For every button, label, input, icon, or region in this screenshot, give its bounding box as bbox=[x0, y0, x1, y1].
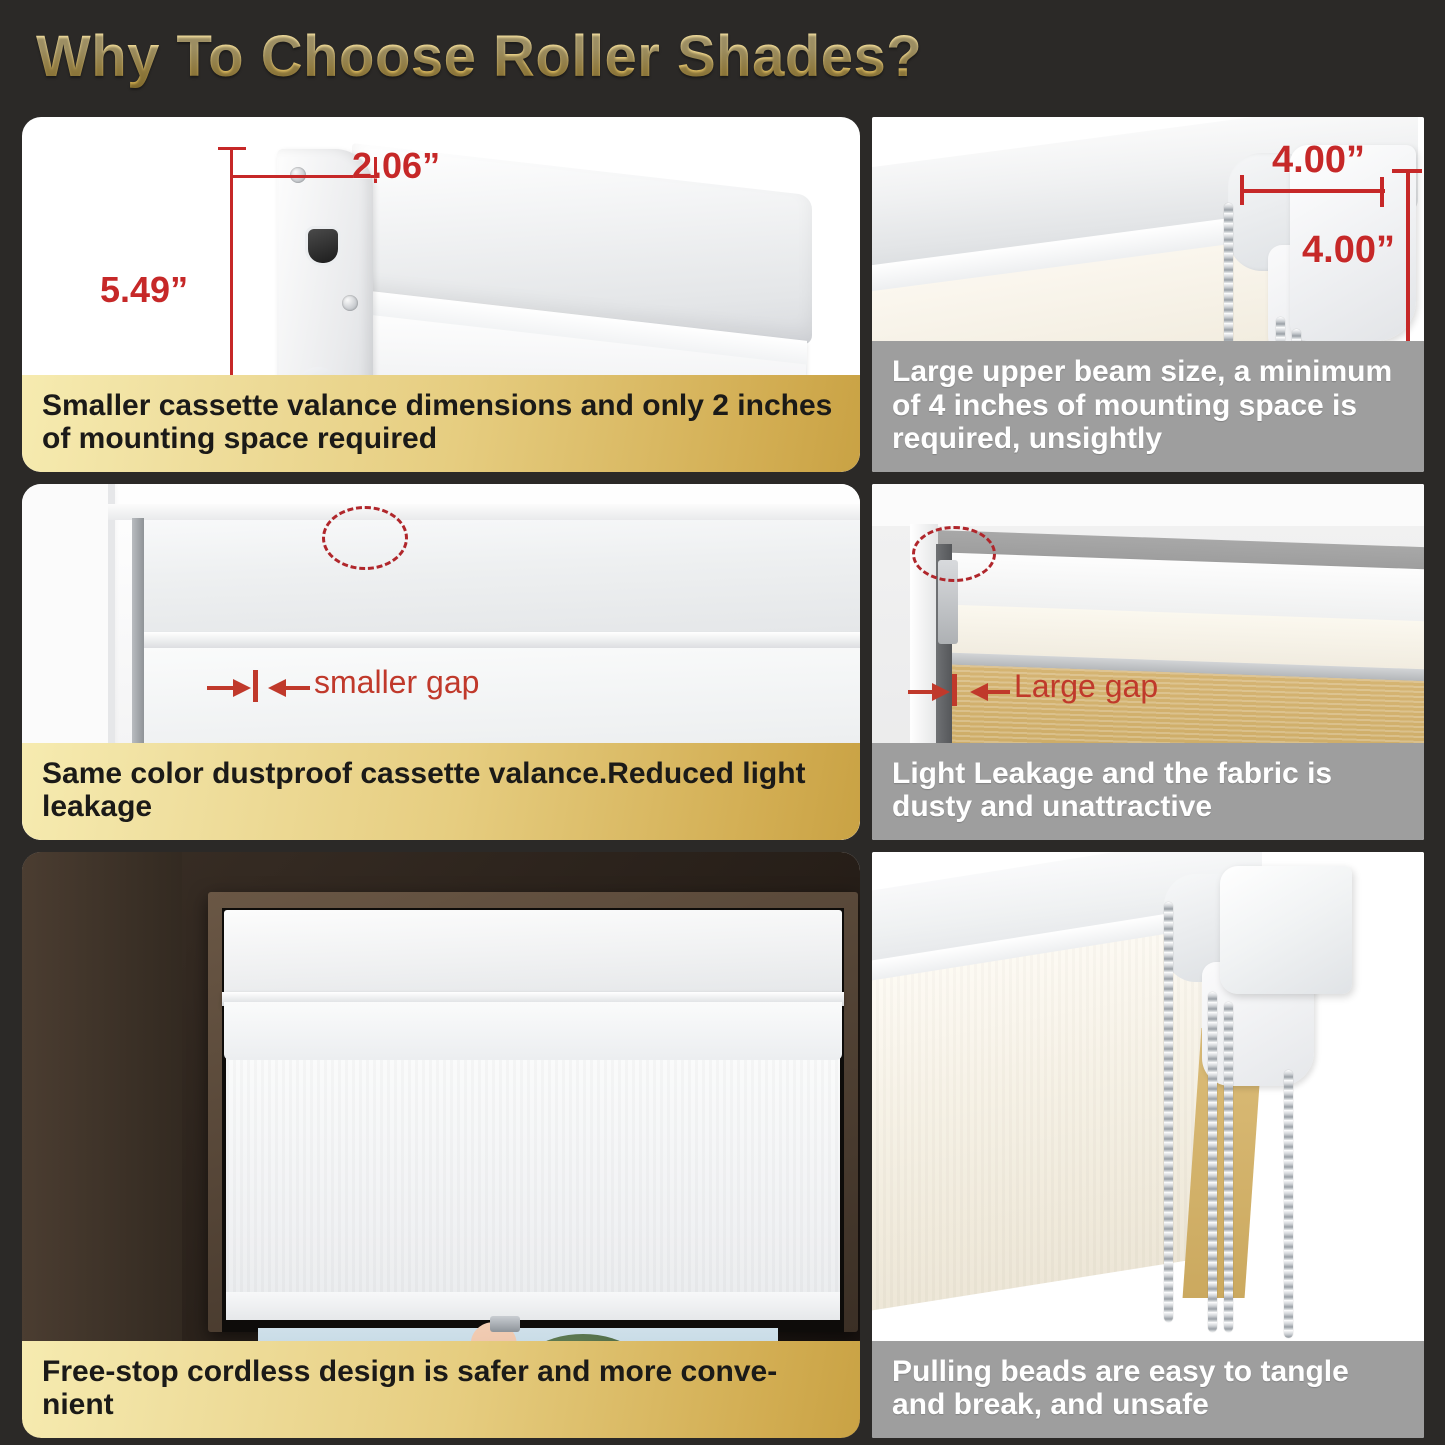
panel-cordless-design[interactable]: Free-stop cordless design is safer and m… bbox=[22, 852, 860, 1438]
dimension-line-vertical bbox=[1406, 169, 1410, 355]
dimension-line-horizontal bbox=[1240, 189, 1385, 193]
fabric-shape bbox=[872, 924, 1230, 1312]
gap-arrow-stem-right bbox=[988, 690, 1010, 694]
dimension-tick-left bbox=[230, 165, 233, 187]
screw-icon bbox=[342, 295, 358, 311]
gap-arrow-stem-left bbox=[908, 690, 934, 694]
dimension-tick-right bbox=[1380, 177, 1384, 207]
panel-3-caption: Same color dustproof cassette valance.Re… bbox=[22, 743, 860, 840]
gap-arrow-right-icon bbox=[932, 683, 950, 701]
panel-smaller-cassette[interactable]: 5.49” 2.06” Smaller cassette valance dim… bbox=[22, 117, 860, 472]
dimension-tick-top bbox=[1392, 169, 1422, 173]
panel-1-caption: Smaller cassette valance dimensions and … bbox=[22, 375, 860, 472]
valance-slot-shape bbox=[308, 229, 338, 263]
gap-arrow-left-icon bbox=[970, 683, 988, 701]
highlight-ellipse-icon bbox=[322, 506, 408, 570]
gap-arrow-stem-left bbox=[207, 686, 235, 690]
pull-tab-shape bbox=[490, 1316, 520, 1332]
page-header: Why To Choose Roller Shades? bbox=[0, 0, 1445, 112]
shade-bottom-rail-shape bbox=[226, 1292, 840, 1320]
panel-6-caption: Pulling beads are easy to tangle and bre… bbox=[872, 1341, 1424, 1438]
panel-pulling-beads[interactable]: Pulling beads are easy to tangle and bre… bbox=[872, 852, 1424, 1438]
bead-chain-icon bbox=[1164, 902, 1173, 1322]
gap-marker-bar bbox=[253, 670, 258, 702]
dimension-label-width: 4.00” bbox=[1272, 139, 1365, 182]
cassette-valance-shape bbox=[142, 520, 860, 638]
highlight-ellipse-icon bbox=[912, 526, 996, 582]
gap-label: Large gap bbox=[1014, 668, 1158, 705]
shade-roll-shape bbox=[224, 1002, 842, 1060]
page-title: Why To Choose Roller Shades? bbox=[0, 23, 922, 90]
dimension-tick-top bbox=[218, 147, 246, 150]
panel-light-leakage[interactable]: Large gap Light Leakage and the fabric i… bbox=[872, 484, 1424, 840]
gap-arrow-left-icon bbox=[268, 679, 286, 697]
dimension-tick-left bbox=[1240, 175, 1244, 205]
panel-large-upper-beam[interactable]: 4.00” 4.00” Large upper beam size, a min… bbox=[872, 117, 1424, 472]
panel-2-caption: Large upper beam size, a minimum of 4 in… bbox=[872, 341, 1424, 472]
panel-5-caption: Free-stop cordless design is safer and m… bbox=[22, 1341, 860, 1438]
window-frame-lip-shape bbox=[108, 504, 860, 520]
mounting-bracket-shape bbox=[1220, 866, 1352, 994]
cassette-valance-shape bbox=[224, 910, 842, 996]
dimension-label-depth: 2.06” bbox=[352, 145, 440, 187]
bead-chain-icon bbox=[1284, 1070, 1293, 1338]
dimension-label-height: 4.00” bbox=[1302, 229, 1395, 272]
ceiling-shape bbox=[872, 484, 1424, 526]
bead-chain-icon bbox=[1208, 992, 1217, 1332]
gap-arrow-stem-right bbox=[286, 686, 310, 690]
shade-fabric-shape bbox=[226, 1058, 840, 1308]
gap-label: smaller gap bbox=[314, 664, 479, 701]
gap-arrow-right-icon bbox=[233, 679, 251, 697]
panel-dustproof-valance[interactable]: smaller gap Same color dustproof cassett… bbox=[22, 484, 860, 840]
dimension-label-height: 5.49” bbox=[100, 269, 188, 311]
gap-marker-bar bbox=[952, 674, 957, 706]
comparison-grid: 5.49” 2.06” Smaller cassette valance dim… bbox=[0, 112, 1445, 1445]
panel-4-caption: Light Leakage and the fabric is dusty an… bbox=[872, 743, 1424, 840]
bead-chain-icon bbox=[1224, 1002, 1233, 1332]
